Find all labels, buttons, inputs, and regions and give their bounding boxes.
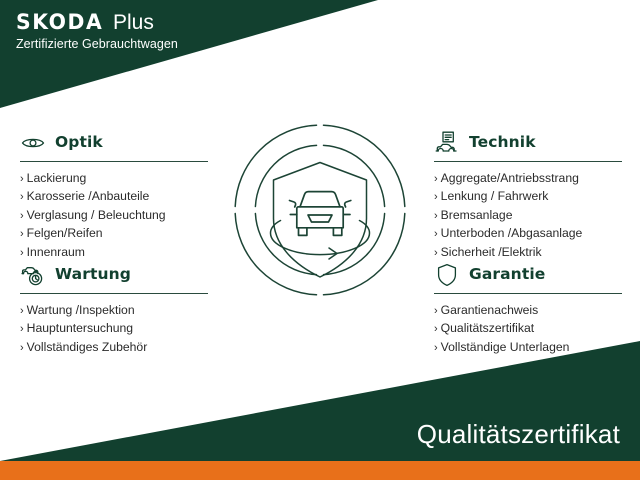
list-item: ›Unterboden /Abgasanlage [434, 225, 634, 243]
list-item-label: Aggregate/Antriebsstrang [441, 170, 579, 187]
category-garantie-header: Garantie [434, 262, 634, 288]
list-item: ›Innenraum [20, 244, 220, 262]
category-garantie-title: Garantie [469, 267, 545, 283]
category-technik-header: Technik [434, 130, 634, 156]
brand-logo: SKODA Plus Zertifizierte Gebrauchtwagen [16, 12, 178, 51]
list-item: ›Garantienachweis [434, 302, 634, 320]
chevron-right-icon: › [20, 226, 24, 243]
category-optik-divider [20, 161, 208, 162]
category-garantie-divider [434, 293, 622, 294]
chevron-right-icon: › [20, 171, 24, 188]
list-item: ›Vollständiges Zubehör [20, 339, 220, 357]
list-item: ›Wartung /Inspektion [20, 302, 220, 320]
list-item: ›Karosserie /Anbauteile [20, 188, 220, 206]
list-item: ›Bremsanlage [434, 207, 634, 225]
category-technik-list: ›Aggregate/Antriebsstrang ›Lenkung / Fah… [434, 170, 634, 262]
chevron-right-icon: › [20, 208, 24, 225]
category-wartung-divider [20, 293, 208, 294]
brand-name: SKODA [16, 12, 103, 33]
list-item: ›Hauptuntersuchung [20, 320, 220, 338]
category-optik: Optik ›Lackierung ›Karosserie /Anbauteil… [20, 130, 220, 262]
list-item-label: Sicherheit /Elektrik [441, 244, 542, 261]
list-item-label: Unterboden /Abgasanlage [441, 225, 583, 242]
list-item-label: Qualitätszertifikat [441, 320, 534, 337]
list-item-label: Hauptuntersuchung [27, 320, 133, 337]
list-item-label: Lackierung [27, 170, 87, 187]
category-technik-title: Technik [469, 135, 536, 151]
list-item-label: Lenkung / Fahrwerk [441, 188, 549, 205]
shield-car-certification-emblem [228, 118, 412, 302]
category-wartung: Wartung ›Wartung /Inspektion ›Hauptunter… [20, 262, 220, 357]
list-item: ›Verglasung / Beleuchtung [20, 207, 220, 225]
list-item: ›Vollständige Unterlagen [434, 339, 634, 357]
category-garantie: Garantie ›Garantienachweis ›Qualitätszer… [434, 262, 634, 357]
chevron-right-icon: › [20, 303, 24, 320]
chevron-right-icon: › [20, 189, 24, 206]
category-optik-list: ›Lackierung ›Karosserie /Anbauteile ›Ver… [20, 170, 220, 262]
category-technik-divider [434, 161, 622, 162]
category-optik-title: Optik [55, 135, 103, 151]
outer-ring [235, 125, 405, 295]
list-item-label: Innenraum [27, 244, 85, 261]
shield-icon [434, 262, 460, 288]
list-item-label: Felgen/Reifen [27, 225, 103, 242]
chevron-right-icon: › [434, 321, 438, 338]
footer-headline: Qualitätszertifikat [417, 421, 620, 447]
brand-suffix: Plus [113, 12, 154, 33]
category-optik-header: Optik [20, 130, 220, 156]
list-item-label: Garantienachweis [441, 302, 539, 319]
list-item-label: Bremsanlage [441, 207, 513, 224]
category-wartung-header: Wartung [20, 262, 220, 288]
chevron-right-icon: › [20, 321, 24, 338]
list-item: ›Lenkung / Fahrwerk [434, 188, 634, 206]
list-item: ›Lackierung [20, 170, 220, 188]
chevron-right-icon: › [20, 340, 24, 357]
emblem-car [290, 192, 351, 236]
emblem-orbit [271, 221, 370, 255]
list-item: ›Aggregate/Antriebsstrang [434, 170, 634, 188]
list-item: ›Sicherheit /Elektrik [434, 244, 634, 262]
category-technik: Technik ›Aggregate/Antriebsstrang ›Lenku… [434, 130, 634, 262]
background-orange-bar [0, 461, 640, 480]
emblem-shield [274, 163, 367, 278]
chevron-right-icon: › [434, 171, 438, 188]
brand-tagline: Zertifizierte Gebrauchtwagen [16, 37, 178, 51]
chevron-right-icon: › [434, 208, 438, 225]
list-item: ›Felgen/Reifen [20, 225, 220, 243]
eye-icon [20, 130, 46, 156]
chevron-right-icon: › [434, 303, 438, 320]
chevron-right-icon: › [20, 245, 24, 262]
chevron-right-icon: › [434, 340, 438, 357]
quality-certificate-graphic: SKODA Plus Zertifizierte Gebrauchtwagen … [0, 0, 640, 480]
document-car-icon [434, 130, 460, 156]
category-garantie-list: ›Garantienachweis ›Qualitätszertifikat ›… [434, 302, 634, 357]
list-item-label: Vollständiges Zubehör [27, 339, 148, 356]
car-clock-icon [20, 262, 46, 288]
chevron-right-icon: › [434, 226, 438, 243]
chevron-right-icon: › [434, 189, 438, 206]
chevron-right-icon: › [434, 245, 438, 262]
list-item-label: Karosserie /Anbauteile [27, 188, 150, 205]
category-wartung-list: ›Wartung /Inspektion ›Hauptuntersuchung … [20, 302, 220, 357]
list-item-label: Verglasung / Beleuchtung [27, 207, 166, 224]
brand-logo-row: SKODA Plus [16, 12, 178, 33]
list-item-label: Wartung /Inspektion [27, 302, 135, 319]
list-item-label: Vollständige Unterlagen [441, 339, 570, 356]
list-item: ›Qualitätszertifikat [434, 320, 634, 338]
category-wartung-title: Wartung [55, 267, 131, 283]
